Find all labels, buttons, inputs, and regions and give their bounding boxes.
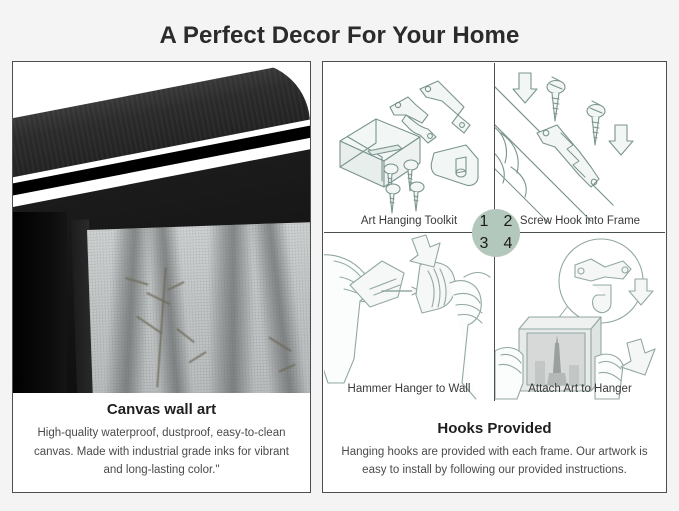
page-title: A Perfect Decor For Your Home <box>0 22 679 50</box>
step-2-screw-hook-into-frame: Screw Hook into Frame <box>495 63 665 231</box>
canvas-caption-body: High-quality waterproof, dustproof, easy… <box>27 424 296 480</box>
canvas-caption-title: Canvas wall art <box>27 401 296 418</box>
step-4-attach-art-to-hanger: Attach Art to Hanger <box>495 233 665 401</box>
canvas-caption: Canvas wall art High-quality waterproof,… <box>13 393 310 492</box>
step-number-3: 3 <box>472 232 496 256</box>
frame-side-return <box>13 212 67 402</box>
step-number-badge: 1 2 3 4 <box>472 209 520 257</box>
step-3-label: Hammer Hanger to Wall <box>324 383 494 395</box>
step-3-hammer-hanger-to-wall: Hammer Hanger to Wall <box>324 233 494 401</box>
product-infographic: A Perfect Decor For Your Home <box>0 0 679 511</box>
step-number-1: 1 <box>472 210 496 234</box>
step-1-label: Art Hanging Toolkit <box>324 215 494 227</box>
hooks-caption-body: Hanging hooks are provided with each fra… <box>337 443 652 480</box>
screw-hook-illustration <box>495 63 665 231</box>
toolkit-illustration <box>324 63 494 231</box>
canvas-wall-art-card: Canvas wall art High-quality waterproof,… <box>12 61 311 493</box>
hooks-provided-card: Art Hanging Toolkit <box>322 61 667 493</box>
step-number-2: 2 <box>496 210 520 234</box>
hanging-instructions-grid: Art Hanging Toolkit <box>324 63 665 401</box>
attach-art-illustration <box>495 233 665 401</box>
canvas-frame-photo <box>13 62 310 402</box>
hooks-caption-title: Hooks Provided <box>337 420 652 437</box>
step-1-art-hanging-toolkit: Art Hanging Toolkit <box>324 63 494 231</box>
canvas-artwork-print <box>87 222 310 402</box>
hooks-caption: Hooks Provided Hanging hooks are provide… <box>323 412 666 492</box>
hammer-hanger-illustration <box>324 233 494 401</box>
step-2-label: Screw Hook into Frame <box>495 215 665 227</box>
step-4-label: Attach Art to Hanger <box>495 383 665 395</box>
step-number-4: 4 <box>496 232 520 256</box>
